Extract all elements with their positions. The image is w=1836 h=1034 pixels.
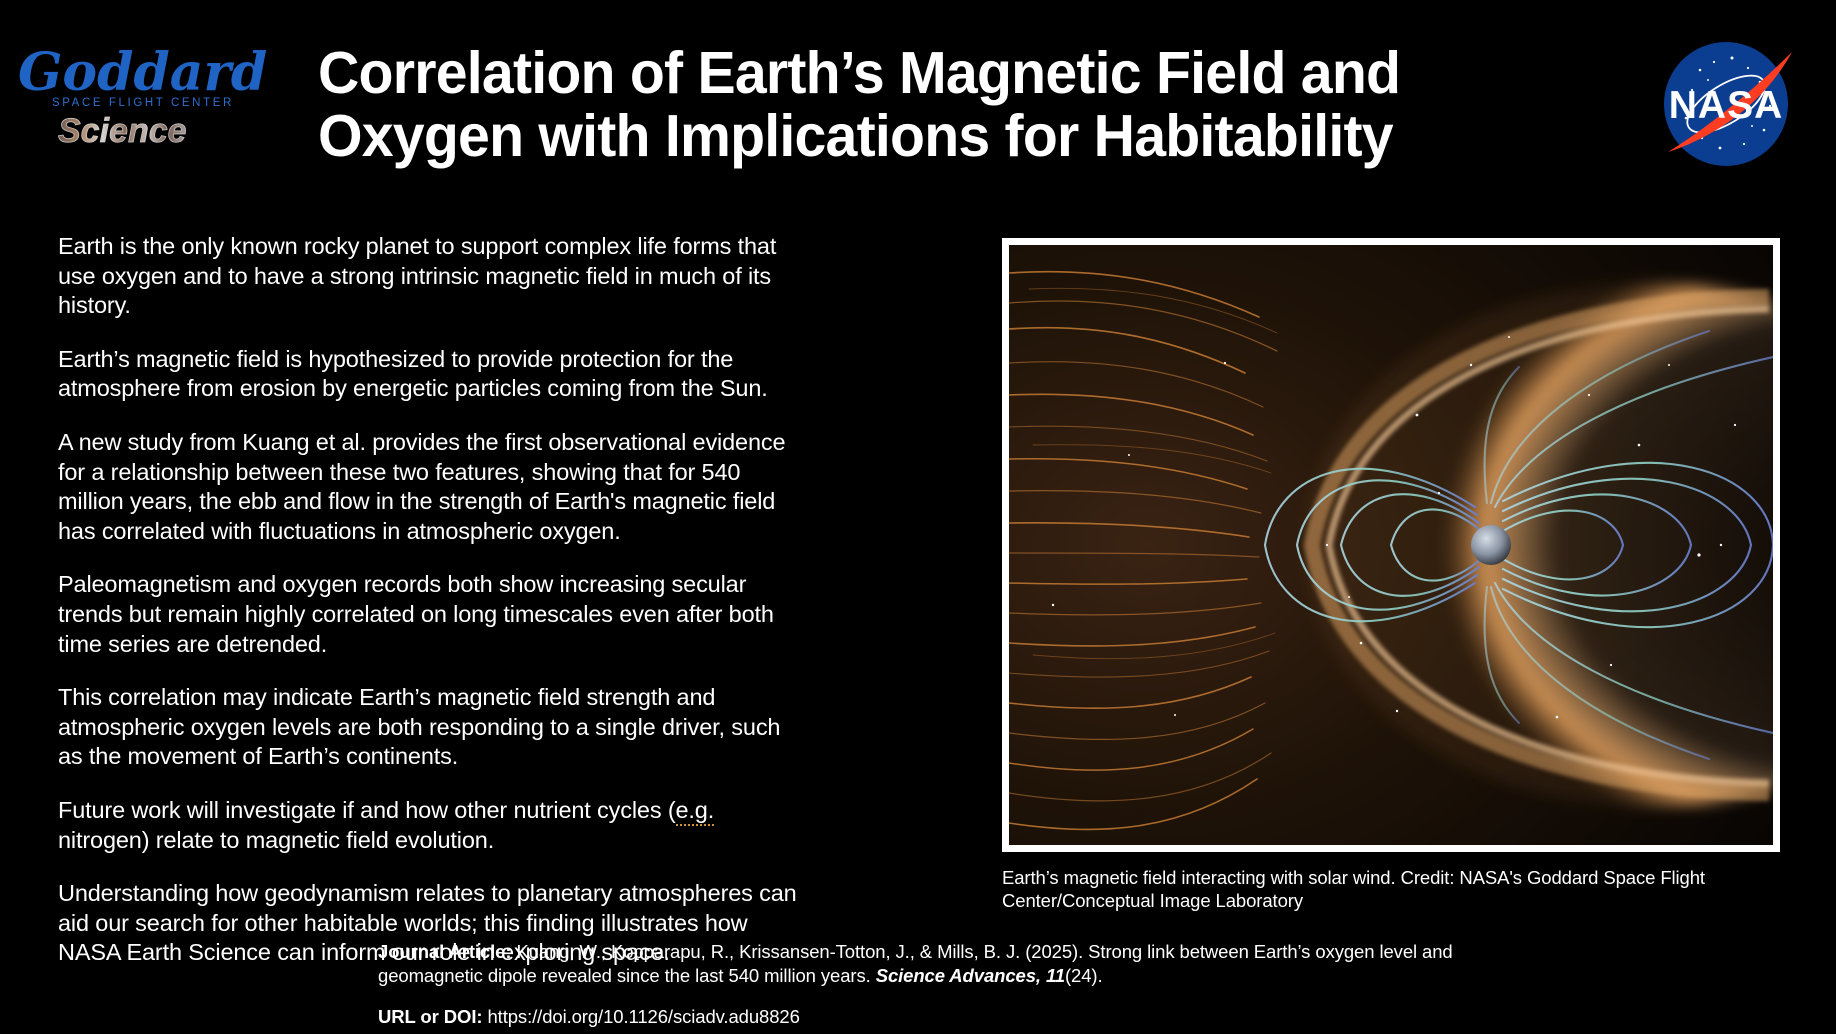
nasa-logo: NASA (1652, 30, 1800, 178)
journal-article-citation-part-2: (24). (1065, 965, 1103, 986)
goddard-script-word: Goddard (18, 42, 267, 103)
magnetosphere-illustration (1009, 245, 1773, 845)
goddard-science-word: Science (58, 112, 187, 150)
body-paragraph-future-work: Future work will investigate if and how … (58, 796, 798, 855)
future-work-text-part-1: Future work will investigate if and how … (58, 797, 676, 823)
body-paragraph-3: A new study from Kuang et al. provides t… (58, 428, 798, 546)
earth-globe (1471, 525, 1511, 565)
future-work-text-part-2: nitrogen) relate to magnetic field evolu… (58, 827, 494, 853)
journal-article-title-italic: Science Advances, 11 (876, 965, 1065, 986)
citation-footer: Journal Article: Kuang, W., Kopparapu, R… (378, 940, 1498, 1029)
journal-article-row: Journal Article: Kuang, W., Kopparapu, R… (378, 940, 1498, 987)
nasa-logo-wordmark: NASA (1669, 84, 1784, 127)
body-text-column: Earth is the only known rocky planet to … (58, 232, 798, 968)
doi-label: URL or DOI: (378, 1006, 482, 1027)
page-title-line-2: Oxygen with Implications for Habitabilit… (318, 105, 1511, 168)
page-title-line-1: Correlation of Earth’s Magnetic Field an… (318, 42, 1511, 105)
body-paragraph-5: This correlation may indicate Earth’s ma… (58, 683, 798, 772)
figure-frame (1002, 238, 1780, 852)
slide-root: Goddard SPACE FLIGHT CENTER Science Corr… (0, 0, 1836, 1034)
body-paragraph-1: Earth is the only known rocky planet to … (58, 232, 798, 321)
body-paragraph-4: Paleomagnetism and oxygen records both s… (58, 570, 798, 659)
doi-row: URL or DOI: https://doi.org/10.1126/scia… (378, 1005, 1498, 1029)
journal-article-label: Journal Article: (378, 941, 511, 962)
goddard-subtitle: SPACE FLIGHT CENTER (52, 97, 234, 109)
doi-link[interactable]: https://doi.org/10.1126/sciadv.adu8826 (487, 1006, 799, 1027)
page-title: Correlation of Earth’s Magnetic Field an… (318, 42, 1548, 167)
goddard-science-logo: Goddard SPACE FLIGHT CENTER Science (12, 34, 272, 154)
body-paragraph-2: Earth’s magnetic field is hypothesized t… (58, 345, 798, 404)
spellcheck-flagged-text: e.g. (676, 797, 715, 826)
figure-caption: Earth’s magnetic field interacting with … (1002, 866, 1802, 912)
slide-header: Goddard SPACE FLIGHT CENTER Science Corr… (0, 0, 1836, 200)
